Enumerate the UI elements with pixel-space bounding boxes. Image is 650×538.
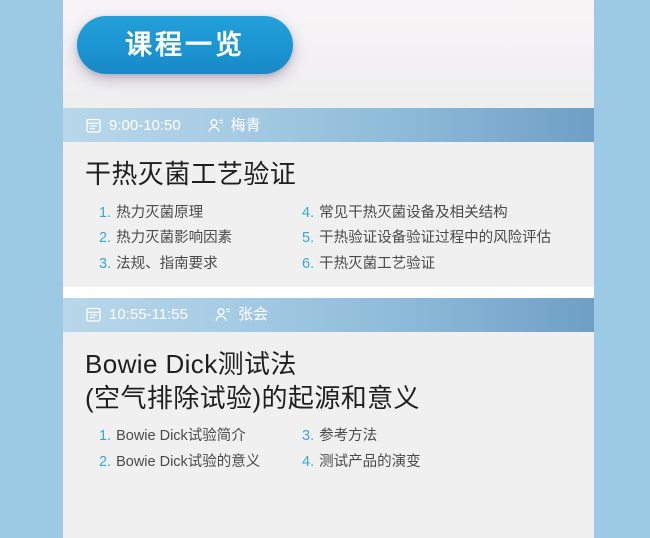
- session-meta-bar: 9:00-10:50 梅青: [63, 108, 594, 142]
- person-icon: [207, 117, 224, 134]
- topic-number: 1.: [99, 205, 111, 222]
- topic-label: 热力灭菌原理: [116, 205, 203, 222]
- hero-section: 课程一览: [63, 0, 594, 108]
- session-time: 10:55-11:55: [109, 307, 188, 322]
- calendar-icon: [85, 306, 102, 323]
- course-schedule-page: 课程一览 9:00-10:50: [0, 0, 650, 538]
- topic-number: 3.: [302, 428, 314, 445]
- topic-label: 干热验证设备验证过程中的风险评估: [319, 230, 551, 247]
- topic-item: 2. Bowie Dick试验的意义: [99, 454, 294, 471]
- topic-item: 3. 参考方法: [302, 428, 584, 445]
- session-speaker: 梅青: [231, 118, 261, 133]
- section-badge: 课程一览: [77, 16, 293, 74]
- session-time-group: 9:00-10:50: [85, 117, 181, 134]
- topic-number: 6.: [302, 256, 314, 273]
- topic-number: 3.: [99, 256, 111, 273]
- session-card: 9:00-10:50 梅青: [63, 108, 594, 287]
- session-title-line: 干热灭菌工艺验证: [85, 158, 574, 192]
- person-icon: [214, 306, 231, 323]
- session-speaker: 张会: [238, 307, 268, 322]
- session-title-line: Bowie Dick测试法: [85, 348, 574, 382]
- topic-label: 参考方法: [319, 428, 377, 445]
- topic-item: 1. 热力灭菌原理: [99, 205, 294, 222]
- topic-item: 2. 热力灭菌影响因素: [99, 230, 294, 247]
- session-topic-list: 1. 热力灭菌原理 4. 常见干热灭菌设备及相关结构 2. 热力灭菌影响因素 5…: [63, 205, 594, 273]
- topic-label: 法规、指南要求: [116, 256, 218, 273]
- session-body: 干热灭菌工艺验证 1. 热力灭菌原理 4. 常见干热灭菌设备及相关结构 2. 热…: [63, 142, 594, 287]
- section-badge-label: 课程一览: [125, 32, 245, 59]
- session-speaker-group: 张会: [214, 306, 268, 323]
- session-time: 9:00-10:50: [109, 118, 181, 133]
- topic-number: 4.: [302, 205, 314, 222]
- topic-label: 测试产品的演变: [319, 454, 421, 471]
- topic-item: 4. 测试产品的演变: [302, 454, 584, 471]
- session-topic-list: 1. Bowie Dick试验简介 3. 参考方法 2. Bowie Dick试…: [63, 428, 594, 470]
- topic-number: 4.: [302, 454, 314, 471]
- topic-label: 热力灭菌影响因素: [116, 230, 232, 247]
- topic-number: 2.: [99, 454, 111, 471]
- topic-item: 4. 常见干热灭菌设备及相关结构: [302, 205, 584, 222]
- session-card: 10:55-11:55 张会: [63, 298, 594, 485]
- topic-item: 3. 法规、指南要求: [99, 256, 294, 273]
- topic-number: 5.: [302, 230, 314, 247]
- session-divider: [63, 287, 594, 298]
- content-sheet: 课程一览 9:00-10:50: [63, 0, 594, 538]
- session-meta-bar: 10:55-11:55 张会: [63, 298, 594, 332]
- session-title: 干热灭菌工艺验证: [63, 158, 594, 192]
- session-time-group: 10:55-11:55: [85, 306, 188, 323]
- topic-number: 1.: [99, 428, 111, 445]
- session-title-line: (空气排除试验)的起源和意义: [85, 382, 574, 416]
- topic-label: Bowie Dick试验的意义: [116, 454, 260, 471]
- topic-item: 1. Bowie Dick试验简介: [99, 428, 294, 445]
- session-speaker-group: 梅青: [207, 117, 261, 134]
- topic-label: Bowie Dick试验简介: [116, 428, 246, 445]
- session-body: Bowie Dick测试法 (空气排除试验)的起源和意义 1. Bowie Di…: [63, 332, 594, 485]
- topic-item: 5. 干热验证设备验证过程中的风险评估: [302, 230, 584, 247]
- calendar-icon: [85, 117, 102, 134]
- topic-label: 干热灭菌工艺验证: [319, 256, 435, 273]
- session-title: Bowie Dick测试法 (空气排除试验)的起源和意义: [63, 348, 594, 416]
- topic-number: 2.: [99, 230, 111, 247]
- topic-item: 6. 干热灭菌工艺验证: [302, 256, 584, 273]
- topic-label: 常见干热灭菌设备及相关结构: [319, 205, 508, 222]
